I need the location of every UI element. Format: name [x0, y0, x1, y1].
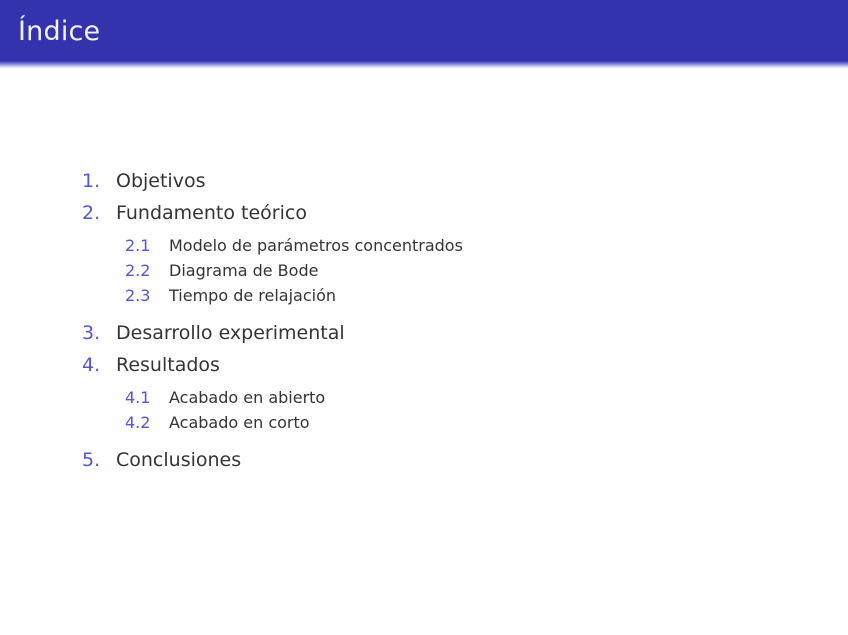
toc-item-objetivos[interactable]: 1.Objetivos [0, 165, 848, 197]
toc-subitem-label: Diagrama de Bode [169, 258, 318, 283]
toc-item-resultados[interactable]: 4.Resultados [0, 349, 848, 381]
toc-item-conclusiones[interactable]: 5.Conclusiones [0, 444, 848, 476]
toc-subitem-diagrama-de-bode[interactable]: 2.2Diagrama de Bode [0, 258, 848, 283]
toc-subitem-label: Tiempo de relajación [169, 283, 336, 308]
toc-subitem-modelo-de-parametros-concentrados[interactable]: 2.1Modelo de parámetros concentrados [0, 233, 848, 258]
toc-subitem-label: Acabado en abierto [169, 385, 325, 410]
toc-item-label: Fundamento teórico [116, 197, 307, 229]
toc-subitem-label: Modelo de parámetros concentrados [169, 233, 463, 258]
toc-item-fundamento-teorico[interactable]: 2.Fundamento teórico [0, 197, 848, 229]
slide-body: 1.Objetivos 2.Fundamento teórico 2.1Mode… [0, 69, 848, 635]
toc-item-label: Desarrollo experimental [116, 317, 345, 349]
toc-item-label: Conclusiones [116, 444, 241, 476]
toc-item-label: Objetivos [116, 165, 205, 197]
toc-subitem-number: 2.3 [125, 283, 169, 308]
toc-subitem-number: 2.2 [125, 258, 169, 283]
slide-header-underline [0, 61, 848, 69]
toc-subitem-label: Acabado en corto [169, 410, 310, 435]
toc-subitem-acabado-en-corto[interactable]: 4.2Acabado en corto [0, 410, 848, 435]
toc-subitem-number: 2.1 [125, 233, 169, 258]
toc-item-number: 3. [82, 317, 116, 349]
toc-item-number: 2. [82, 197, 116, 229]
page-title: Índice [18, 17, 100, 47]
slide-header-bar [0, 0, 848, 61]
toc-subitem-tiempo-de-relajacion[interactable]: 2.3Tiempo de relajación [0, 283, 848, 308]
toc-subitem-number: 4.2 [125, 410, 169, 435]
toc-item-desarrollo-experimental[interactable]: 3.Desarrollo experimental [0, 317, 848, 349]
toc-item-number: 4. [82, 349, 116, 381]
toc-subitem-acabado-en-abierto[interactable]: 4.1Acabado en abierto [0, 385, 848, 410]
toc-subitem-number: 4.1 [125, 385, 169, 410]
toc-item-number: 5. [82, 444, 116, 476]
table-of-contents: 1.Objetivos 2.Fundamento teórico 2.1Mode… [0, 165, 848, 476]
toc-item-label: Resultados [116, 349, 220, 381]
toc-item-number: 1. [82, 165, 116, 197]
